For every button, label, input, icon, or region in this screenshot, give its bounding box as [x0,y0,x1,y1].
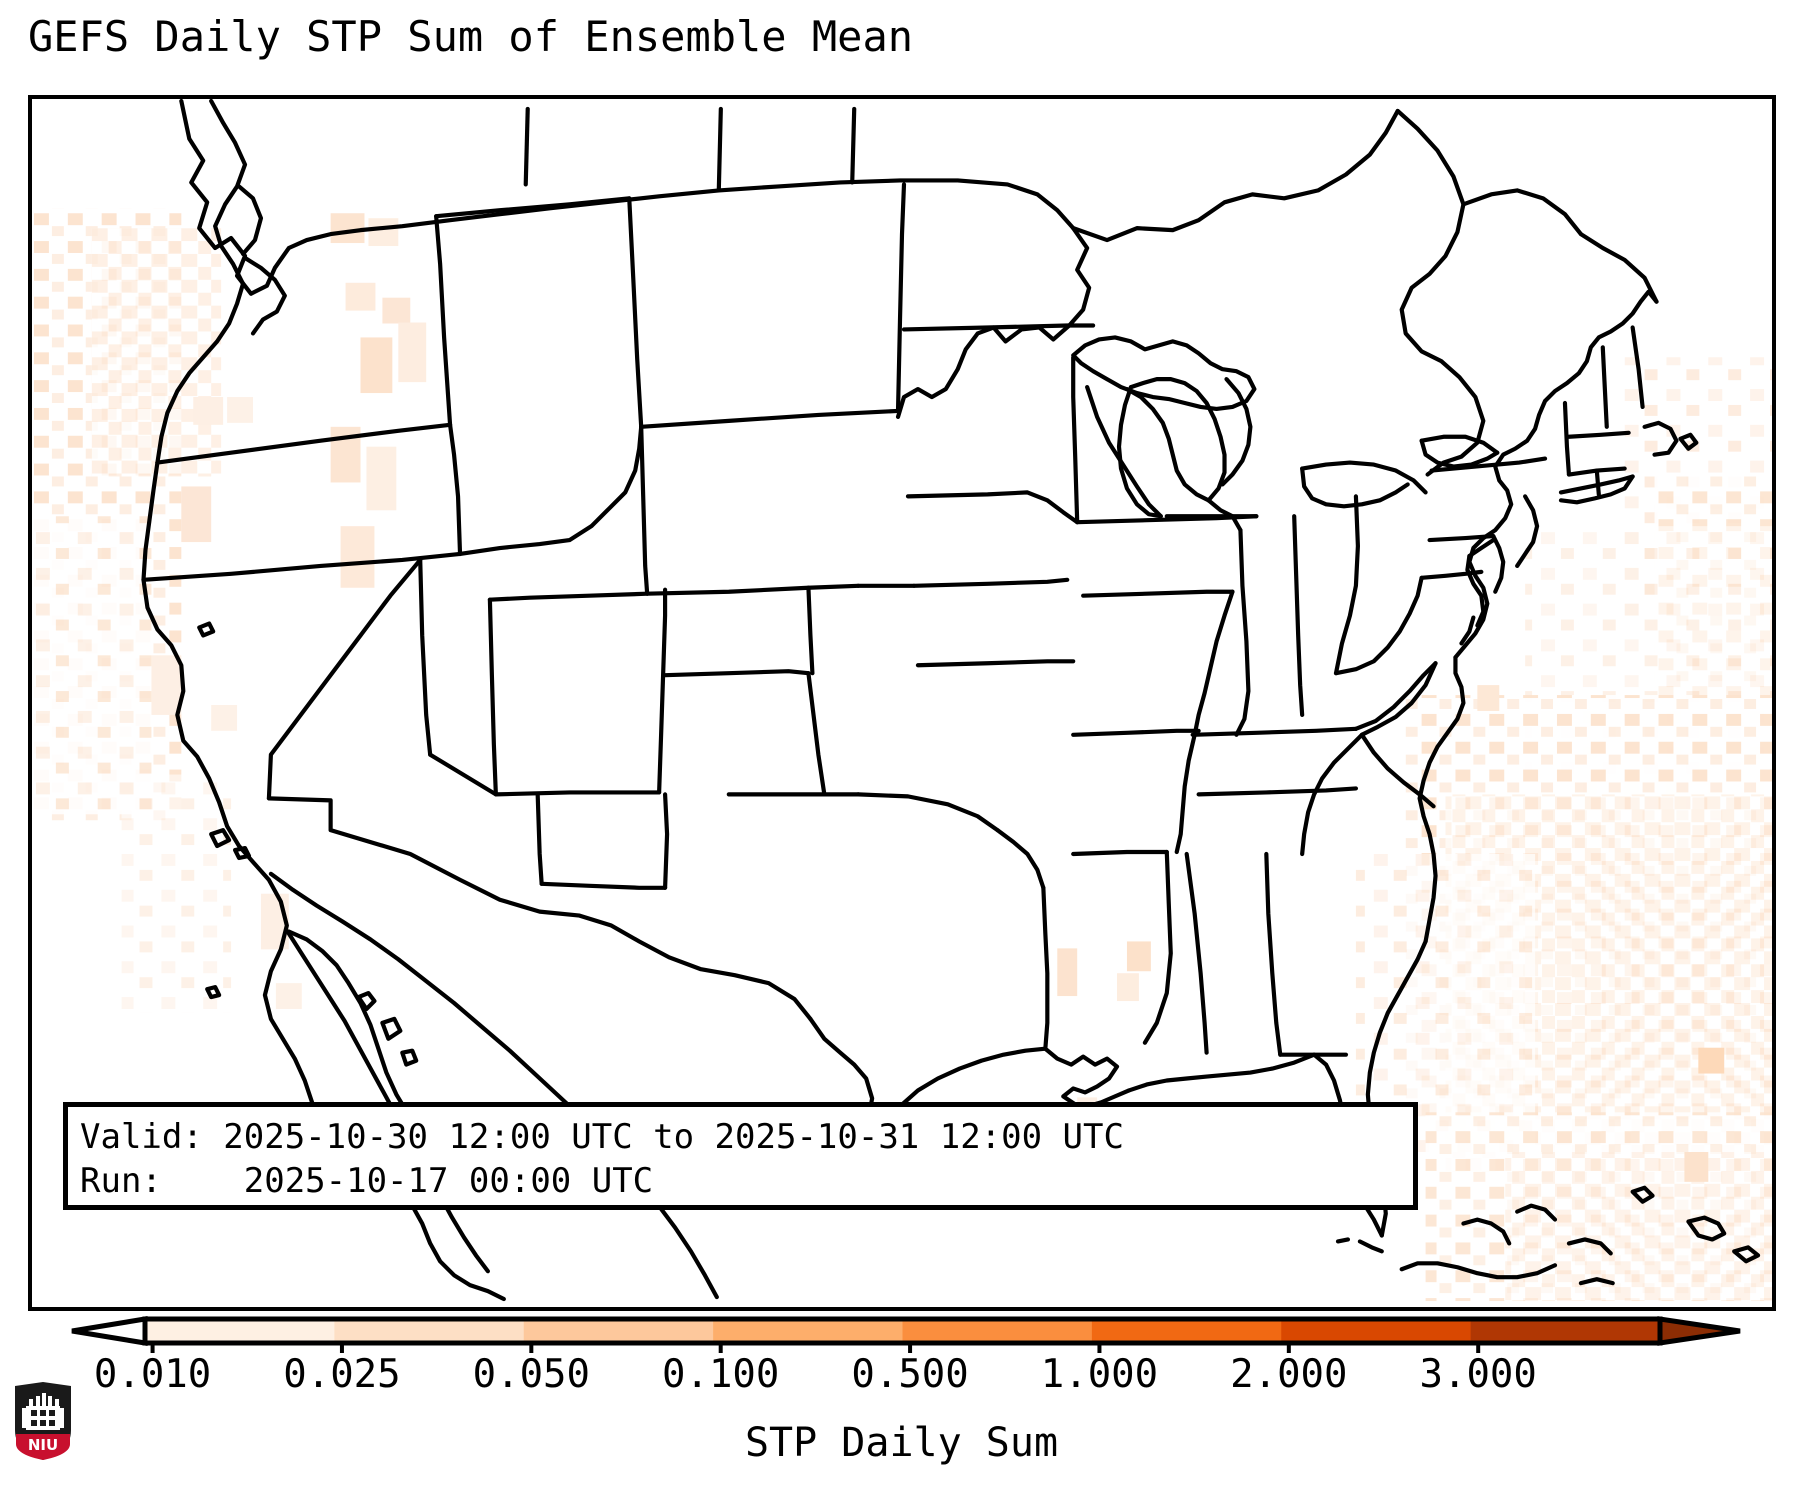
colorbar-band [1281,1319,1471,1343]
niu-logo-svg: NIU [12,1382,74,1460]
colorbar-extend-high-arrow [1660,1319,1740,1343]
colorbar-tick-label: 3.000 [1419,1352,1536,1397]
colorbar-tick-label: 0.010 [94,1352,211,1397]
colorbar-bands[interactable] [145,1319,1661,1343]
colorbar-tick-label: 0.050 [473,1352,590,1397]
colorbar-axis-title: STP Daily Sum [0,1420,1803,1466]
page-title: GEFS Daily STP Sum of Ensemble Mean [28,16,913,58]
colorbar-extend-low-arrow [72,1319,145,1343]
colorbar-band [334,1319,524,1343]
colorbar-tick-label: 0.025 [283,1352,400,1397]
colorbar-band [524,1319,714,1343]
colorbar-band [713,1319,903,1343]
run-time-text: Run: 2025-10-17 00:00 UTC [80,1159,1413,1203]
colorbar-tick-labels: 0.0100.0250.0500.1000.5001.0002.0003.000 [0,1352,1803,1410]
colorbar-tick-label: 1.000 [1041,1352,1158,1397]
colorbar-tick-label: 0.500 [851,1352,968,1397]
colorbar-band [1092,1319,1282,1343]
colorbar-tick-label: 0.100 [662,1352,779,1397]
colorbar-band [903,1319,1093,1343]
colorbar-band [1471,1319,1661,1343]
valid-time-text: Valid: 2025-10-30 12:00 UTC to 2025-10-3… [80,1115,1413,1159]
map-panel[interactable]: Valid: 2025-10-30 12:00 UTC to 2025-10-3… [28,95,1776,1311]
colorbar-tick-label: 2.000 [1230,1352,1347,1397]
niu-logo: NIU [12,1382,74,1460]
logo-text: NIU [28,1436,58,1454]
colorbar[interactable] [0,1313,1803,1353]
colorbar-svg[interactable] [0,1313,1803,1353]
colorbar-band [145,1319,335,1343]
info-box: Valid: 2025-10-30 12:00 UTC to 2025-10-3… [63,1102,1418,1210]
